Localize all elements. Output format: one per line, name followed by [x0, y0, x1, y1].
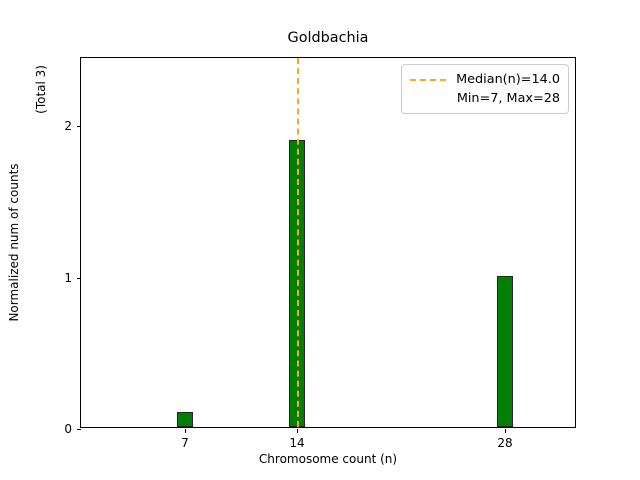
x-axis-label: Chromosome count (n) [80, 452, 576, 466]
xtick-mark-28 [505, 429, 506, 433]
legend-entry-minmax: Min=7, Max=28 [410, 89, 560, 108]
xtick-label-7: 7 [181, 436, 189, 450]
median-line [297, 58, 299, 427]
y-axis-total-label: (Total 3) [34, 57, 48, 114]
xtick-mark-7 [185, 429, 186, 433]
ytick-mark-2 [77, 126, 81, 127]
plot-axes: 7 14 28 0 1 2 Median(n)=14.0 Min=7, Max=… [80, 57, 576, 428]
ytick-label-1: 1 [64, 271, 72, 285]
xtick-mark-14 [297, 429, 298, 433]
ytick-mark-1 [77, 278, 81, 279]
bar-7 [177, 412, 193, 427]
legend-label-median: Median(n)=14.0 [456, 72, 560, 87]
ytick-mark-0 [77, 429, 81, 430]
ytick-label-0: 0 [64, 422, 72, 436]
legend-entry-median: Median(n)=14.0 [410, 70, 560, 89]
matplotlib-figure: Goldbachia 7 14 28 0 1 2 Median(n)=14.0 [0, 0, 640, 480]
y-axis-total-wrap: (Total 3) [28, 57, 54, 428]
y-axis-label-wrap: Normalized num of counts [0, 57, 28, 428]
chart-title: Goldbachia [80, 30, 576, 47]
bar-28 [497, 276, 513, 427]
xtick-label-28: 28 [497, 436, 512, 450]
dashed-line-swatch-icon [410, 79, 446, 81]
xtick-label-14: 14 [289, 436, 304, 450]
chart-legend[interactable]: Median(n)=14.0 Min=7, Max=28 [401, 64, 569, 114]
legend-label-minmax: Min=7, Max=28 [410, 91, 560, 106]
y-axis-label: Normalized num of counts [7, 163, 21, 321]
ytick-label-2: 2 [64, 119, 72, 133]
